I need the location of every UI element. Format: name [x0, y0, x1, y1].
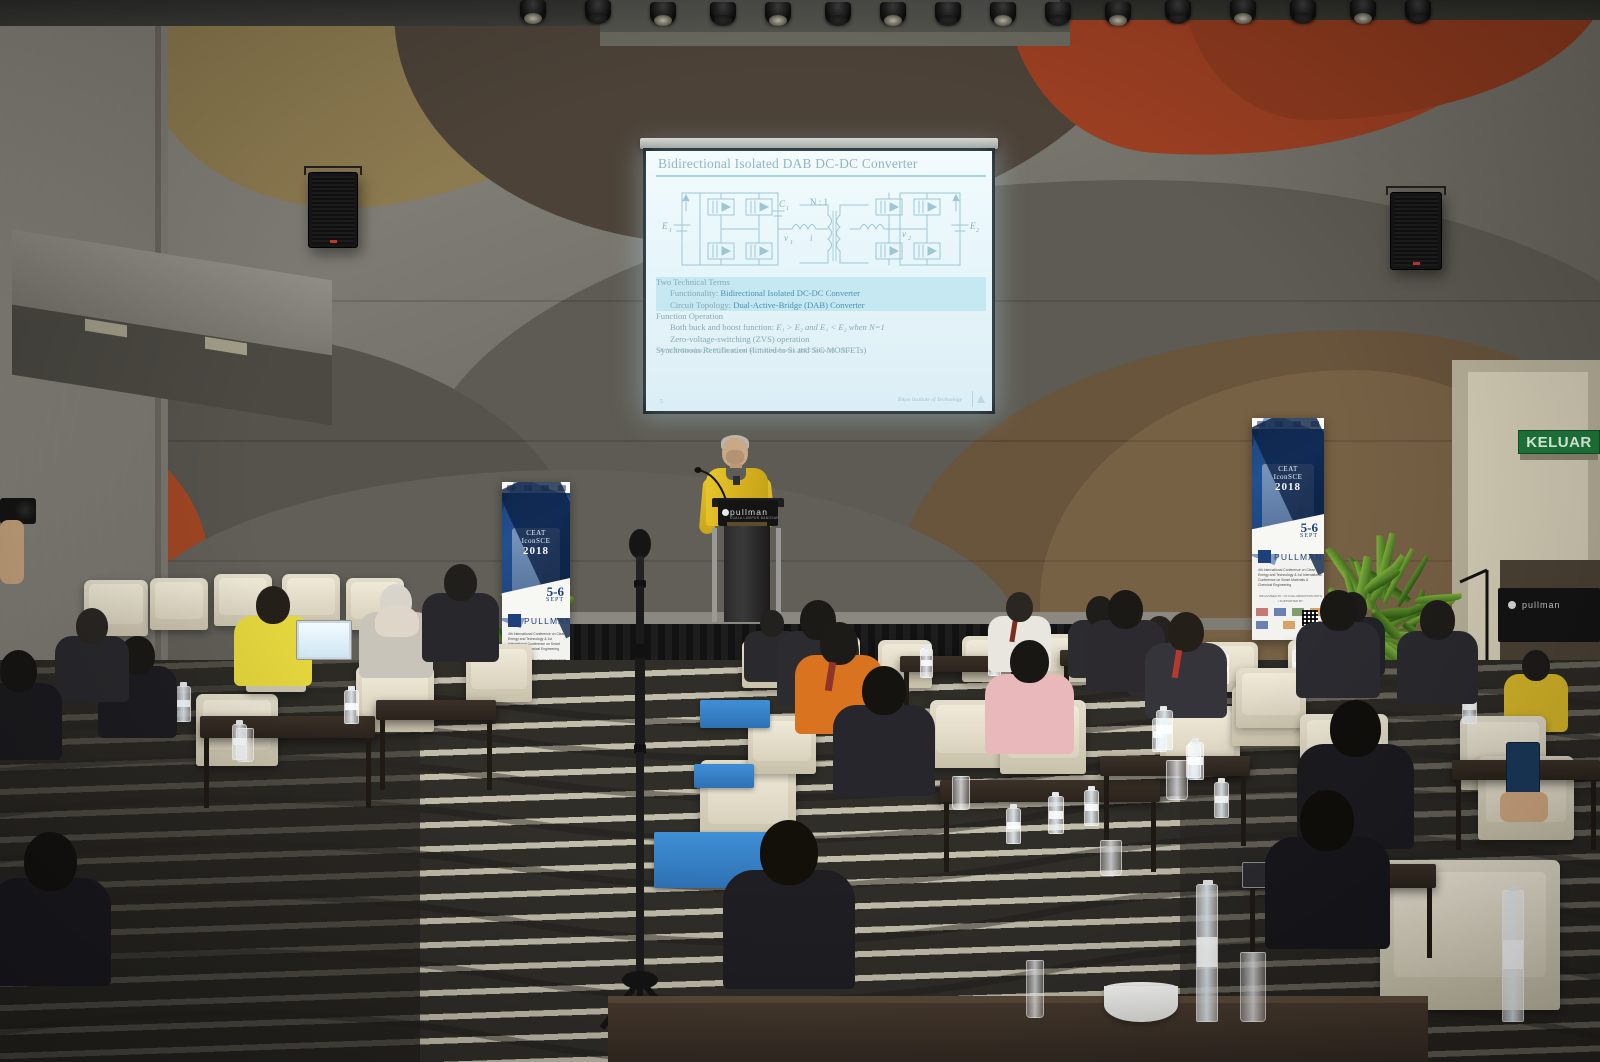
- audience-person-head: [76, 608, 108, 644]
- table-leg: [380, 720, 385, 790]
- audience-person-head: [1522, 650, 1550, 681]
- audience-person-head: [1006, 592, 1033, 622]
- svg-text:i: i: [810, 233, 813, 243]
- banner-date: 5-6 SEPT: [546, 586, 564, 604]
- audience-person-torso: [1296, 622, 1380, 698]
- bottle-cap: [1203, 880, 1213, 885]
- podium-column: [724, 526, 770, 622]
- banner-date: 5-6 SEPT: [1300, 522, 1318, 540]
- audience-person-head: [862, 666, 906, 715]
- svg-text:v: v: [902, 229, 906, 239]
- slide-bullet-2-value: Dual-Active-Bridge (DAB) Converter: [733, 300, 864, 310]
- audience-person-head: [24, 832, 77, 891]
- bottle-label: [1215, 796, 1228, 803]
- table-leg: [1250, 888, 1255, 958]
- table-leg: [1591, 780, 1596, 850]
- speaker-led: [330, 240, 337, 243]
- slide-bullet-1-value: Bidirectional Isolated DC-DC Converter: [720, 288, 860, 298]
- dab-converter-circuit-diagram: E1 E2 C1 N : 1 v1 i v2: [660, 181, 980, 276]
- exit-sign: KELUAR: [1518, 430, 1600, 454]
- wall-speaker-left: [308, 172, 358, 248]
- table-leg: [1241, 776, 1246, 846]
- slide-bullet-4: Zero-voltage-switching (ZVS) operation: [656, 334, 986, 345]
- audience-person-head: [1010, 640, 1049, 683]
- ceiling-spotlight: [880, 2, 906, 24]
- bottle-cap: [1509, 886, 1519, 891]
- ceiling-spotlight: [650, 2, 676, 24]
- photographer-arm: [0, 520, 24, 584]
- svg-text:2: 2: [976, 228, 979, 234]
- ceiling-spotlight: [1045, 2, 1071, 24]
- ceiling-spotlight: [1165, 0, 1191, 22]
- bottle-label: [1503, 940, 1523, 969]
- audience-person-head: [820, 622, 858, 665]
- slide-page-number: 5: [660, 399, 663, 405]
- water-bottle: [1196, 884, 1218, 1022]
- podium-leg-right: [776, 528, 781, 622]
- slide-bullet-1: Functionality: Bidirectional Isolated DC…: [656, 288, 986, 299]
- bottle-cap: [1088, 786, 1095, 791]
- partner-logo-icon: [1256, 621, 1268, 629]
- audience-person-torso: [833, 705, 934, 796]
- banner-hotel: PULLMAN: [508, 614, 570, 627]
- partner-logo-icon: [1274, 608, 1286, 616]
- svg-text:1: 1: [790, 240, 793, 246]
- table-leg: [1104, 776, 1109, 846]
- table-leg: [944, 802, 949, 872]
- water-bottle: [1084, 790, 1099, 826]
- ceramic-bowl: [1104, 986, 1178, 1022]
- ceiling-spotlight: [1290, 0, 1316, 22]
- speaker-bracket: [304, 166, 362, 175]
- ceiling-spotlight: [585, 0, 611, 22]
- slide-bullet-1-label: Functionality:: [670, 288, 718, 298]
- svg-text:v: v: [784, 233, 788, 243]
- table-leg: [1456, 780, 1461, 850]
- audience-person-head: [1420, 600, 1455, 640]
- conference-bag: [694, 764, 754, 788]
- bottle-cap: [1160, 706, 1167, 711]
- exit-sign-mount: [1520, 454, 1598, 460]
- slide-title: Bidirectional Isolated DAB DC-DC Convert…: [658, 156, 983, 172]
- audience-person-torso: [1397, 631, 1478, 704]
- table-leg: [487, 720, 492, 790]
- bottle-label: [921, 660, 932, 666]
- bottle-label: [1197, 937, 1217, 967]
- banner-organisers: ORGANISED BY • IN COLLABORATION WITH • S…: [1258, 594, 1323, 603]
- banner-hotel: PULLMAN: [1258, 550, 1323, 563]
- audience-person-torso: [0, 683, 62, 760]
- bottle-label: [1189, 757, 1203, 765]
- bottle-label: [1085, 804, 1098, 811]
- speaker-grille: [312, 176, 354, 244]
- conference-hall-scene: KELUAR Bidirectional Isolated DAB DC-DC …: [0, 0, 1600, 1062]
- drinking-glass: [1240, 952, 1266, 1022]
- speaker-bracket: [1386, 186, 1446, 195]
- slide-bullet-3-label: Both buck and boost function:: [670, 322, 774, 332]
- banner-month: SEPT: [1300, 534, 1318, 540]
- slide-bullet-3-value: E₁ > E₂ and E₁ < E₂ when N=1: [776, 322, 885, 332]
- bottle-cap: [1010, 804, 1017, 809]
- ceiling-spotlight: [1405, 0, 1431, 22]
- audience-person-head: [256, 586, 290, 624]
- banner-event-line2: IconSCE: [516, 538, 557, 546]
- drinking-glass: [1100, 840, 1122, 876]
- water-bottle: [344, 690, 359, 724]
- podium-leg-left: [712, 528, 717, 622]
- bottle-cap: [1218, 778, 1225, 783]
- mobile-phone: [1506, 742, 1540, 794]
- slide-bullet-2: Circuit Topology: Dual-Active-Bridge (DA…: [656, 300, 986, 311]
- audience-person-torso: [422, 593, 498, 662]
- svg-text:C: C: [779, 199, 786, 209]
- svg-text:2: 2: [908, 236, 911, 242]
- audience-person-torso: [985, 674, 1074, 754]
- ceiling-rail-right: [1060, 0, 1600, 20]
- bottle-label: [177, 700, 190, 707]
- drinking-glass: [1026, 960, 1044, 1018]
- slide-footer-institution: Tokyo Institute of Technology: [897, 397, 962, 403]
- slide-title-rule: [656, 175, 986, 177]
- ceiling-spotlight: [990, 2, 1016, 24]
- institution-logo-icon: [972, 391, 986, 407]
- slide-body-text: Two Technical Terms Functionality: Bidir…: [656, 277, 986, 356]
- audience-person-torso: [723, 870, 856, 989]
- slide-bullet-3: Both buck and boost function: E₁ > E₂ an…: [656, 322, 986, 333]
- partner-logo-icon: [1256, 608, 1268, 616]
- bottle-label: [1463, 703, 1476, 710]
- slide-citation: R. W. DeDoncker, D. M. Divan, and M. H. …: [660, 348, 852, 354]
- foreground-table-edge: [608, 996, 1428, 1003]
- foreground-table: [608, 998, 1428, 1062]
- ceiling-spotlight: [1105, 2, 1131, 24]
- audience-person-head: [0, 650, 37, 692]
- ceiling-spotlight: [1230, 0, 1256, 22]
- podium-nameplate: [727, 522, 767, 526]
- ceiling-spotlight: [765, 2, 791, 24]
- drinking-glass: [236, 728, 254, 762]
- water-bottle: [1156, 710, 1173, 750]
- audience-person-head: [1108, 590, 1143, 629]
- bottle-cap: [1052, 792, 1059, 797]
- banner-month: SEPT: [546, 598, 564, 604]
- audience-table: [376, 700, 496, 720]
- laptop-screen: [299, 623, 349, 657]
- conference-banner-right: CEAT IconSCE 2018 5-6 SEPT PULLMAN 4th I…: [1252, 418, 1324, 640]
- presenter-badge: [733, 476, 740, 485]
- exit-sign-label: KELUAR: [1526, 434, 1592, 451]
- wall-panel-seam: [168, 440, 1600, 442]
- audience-person-head: [760, 610, 784, 637]
- banner-event-line2: IconSCE: [1266, 474, 1309, 482]
- banner-emblem: CEAT IconSCE 2018: [516, 530, 557, 557]
- water-bottle: [176, 686, 191, 722]
- audience-person-torso: [1265, 837, 1390, 949]
- partner-logo-icon: [1283, 621, 1295, 629]
- hand: [1500, 792, 1548, 822]
- water-bottle: [1048, 796, 1064, 834]
- audience-person-head: [444, 564, 477, 601]
- bottle-cap: [180, 682, 187, 687]
- table-leg: [1151, 802, 1156, 872]
- water-bottle: [1188, 742, 1204, 780]
- hotel-logo-icon: [1258, 550, 1271, 563]
- audience-person-head: [760, 820, 818, 885]
- slide-bullet-2-label: Circuit Topology:: [670, 300, 731, 310]
- banner-hotel-name: PULLMAN: [524, 616, 570, 626]
- audience-person-head: [1320, 590, 1357, 631]
- laptop: [296, 620, 352, 660]
- presenter-face: [726, 450, 744, 464]
- hotel-logo-icon: [508, 614, 521, 627]
- svg-text:N : 1: N : 1: [810, 197, 828, 207]
- bottle-cap: [924, 644, 931, 649]
- slide-section-1: Two Technical Terms: [656, 277, 986, 288]
- table-leg: [366, 738, 371, 808]
- bottle-label: [1157, 725, 1172, 733]
- rear-lectern-brand-label: pullman: [1522, 600, 1561, 610]
- water-bottle: [1502, 890, 1524, 1022]
- speaker-grille: [1394, 196, 1438, 266]
- banner-year: 2018: [516, 545, 557, 557]
- svg-text:E: E: [969, 221, 976, 231]
- bottle-cap: [1192, 738, 1199, 743]
- water-bottle: [1214, 782, 1229, 818]
- ceiling-soffit: [600, 32, 1070, 46]
- bottle-label: [1049, 811, 1063, 819]
- banner-year: 2018: [1266, 481, 1309, 493]
- audience-person-head: [1330, 700, 1381, 757]
- svg-text:1: 1: [669, 228, 672, 234]
- ceiling-spotlight: [520, 0, 546, 22]
- podium-logo-icon: [722, 509, 729, 516]
- bottle-label: [345, 703, 358, 710]
- drinking-glass: [1166, 760, 1188, 800]
- table-leg: [1427, 888, 1432, 958]
- drinking-glass: [952, 776, 970, 810]
- speaker-led: [1413, 262, 1420, 265]
- audience-person-head: [1168, 612, 1204, 652]
- ceiling-spotlight: [1350, 0, 1376, 22]
- bottle-cap: [236, 720, 243, 725]
- conference-bag: [700, 700, 770, 728]
- table-leg: [204, 738, 209, 808]
- bottle-label: [1007, 822, 1020, 829]
- slide-section-2: Function Operation: [656, 311, 986, 322]
- banner-hotel-name: PULLMAN: [1274, 552, 1323, 562]
- svg-text:E: E: [661, 221, 668, 231]
- bottle-cap: [348, 686, 355, 691]
- audience-person-head: [1300, 790, 1354, 851]
- audience-person-torso: [0, 878, 111, 987]
- ceiling-spotlight: [710, 2, 736, 24]
- banner-emblem: CEAT IconSCE 2018: [1266, 466, 1309, 493]
- ceiling-spotlight: [935, 2, 961, 24]
- water-bottle: [920, 648, 933, 678]
- presentation-slide: Bidirectional Isolated DAB DC-DC Convert…: [646, 151, 992, 411]
- water-bottle: [1006, 808, 1021, 844]
- audience-chair: [150, 578, 208, 630]
- wall-speaker-right: [1390, 192, 1442, 270]
- headscarf: [375, 605, 418, 637]
- podium-brand-sublabel: KUALA LUMPUR BANGSAR: [730, 516, 779, 520]
- camera-lens-icon: [14, 500, 36, 520]
- banner-subtitle: 4th International Conference on Clean En…: [1258, 568, 1323, 588]
- ceiling-spotlight: [825, 2, 851, 24]
- audience-person-torso: [1145, 643, 1228, 717]
- svg-text:1: 1: [786, 206, 789, 212]
- audience-person-torso: [55, 636, 128, 702]
